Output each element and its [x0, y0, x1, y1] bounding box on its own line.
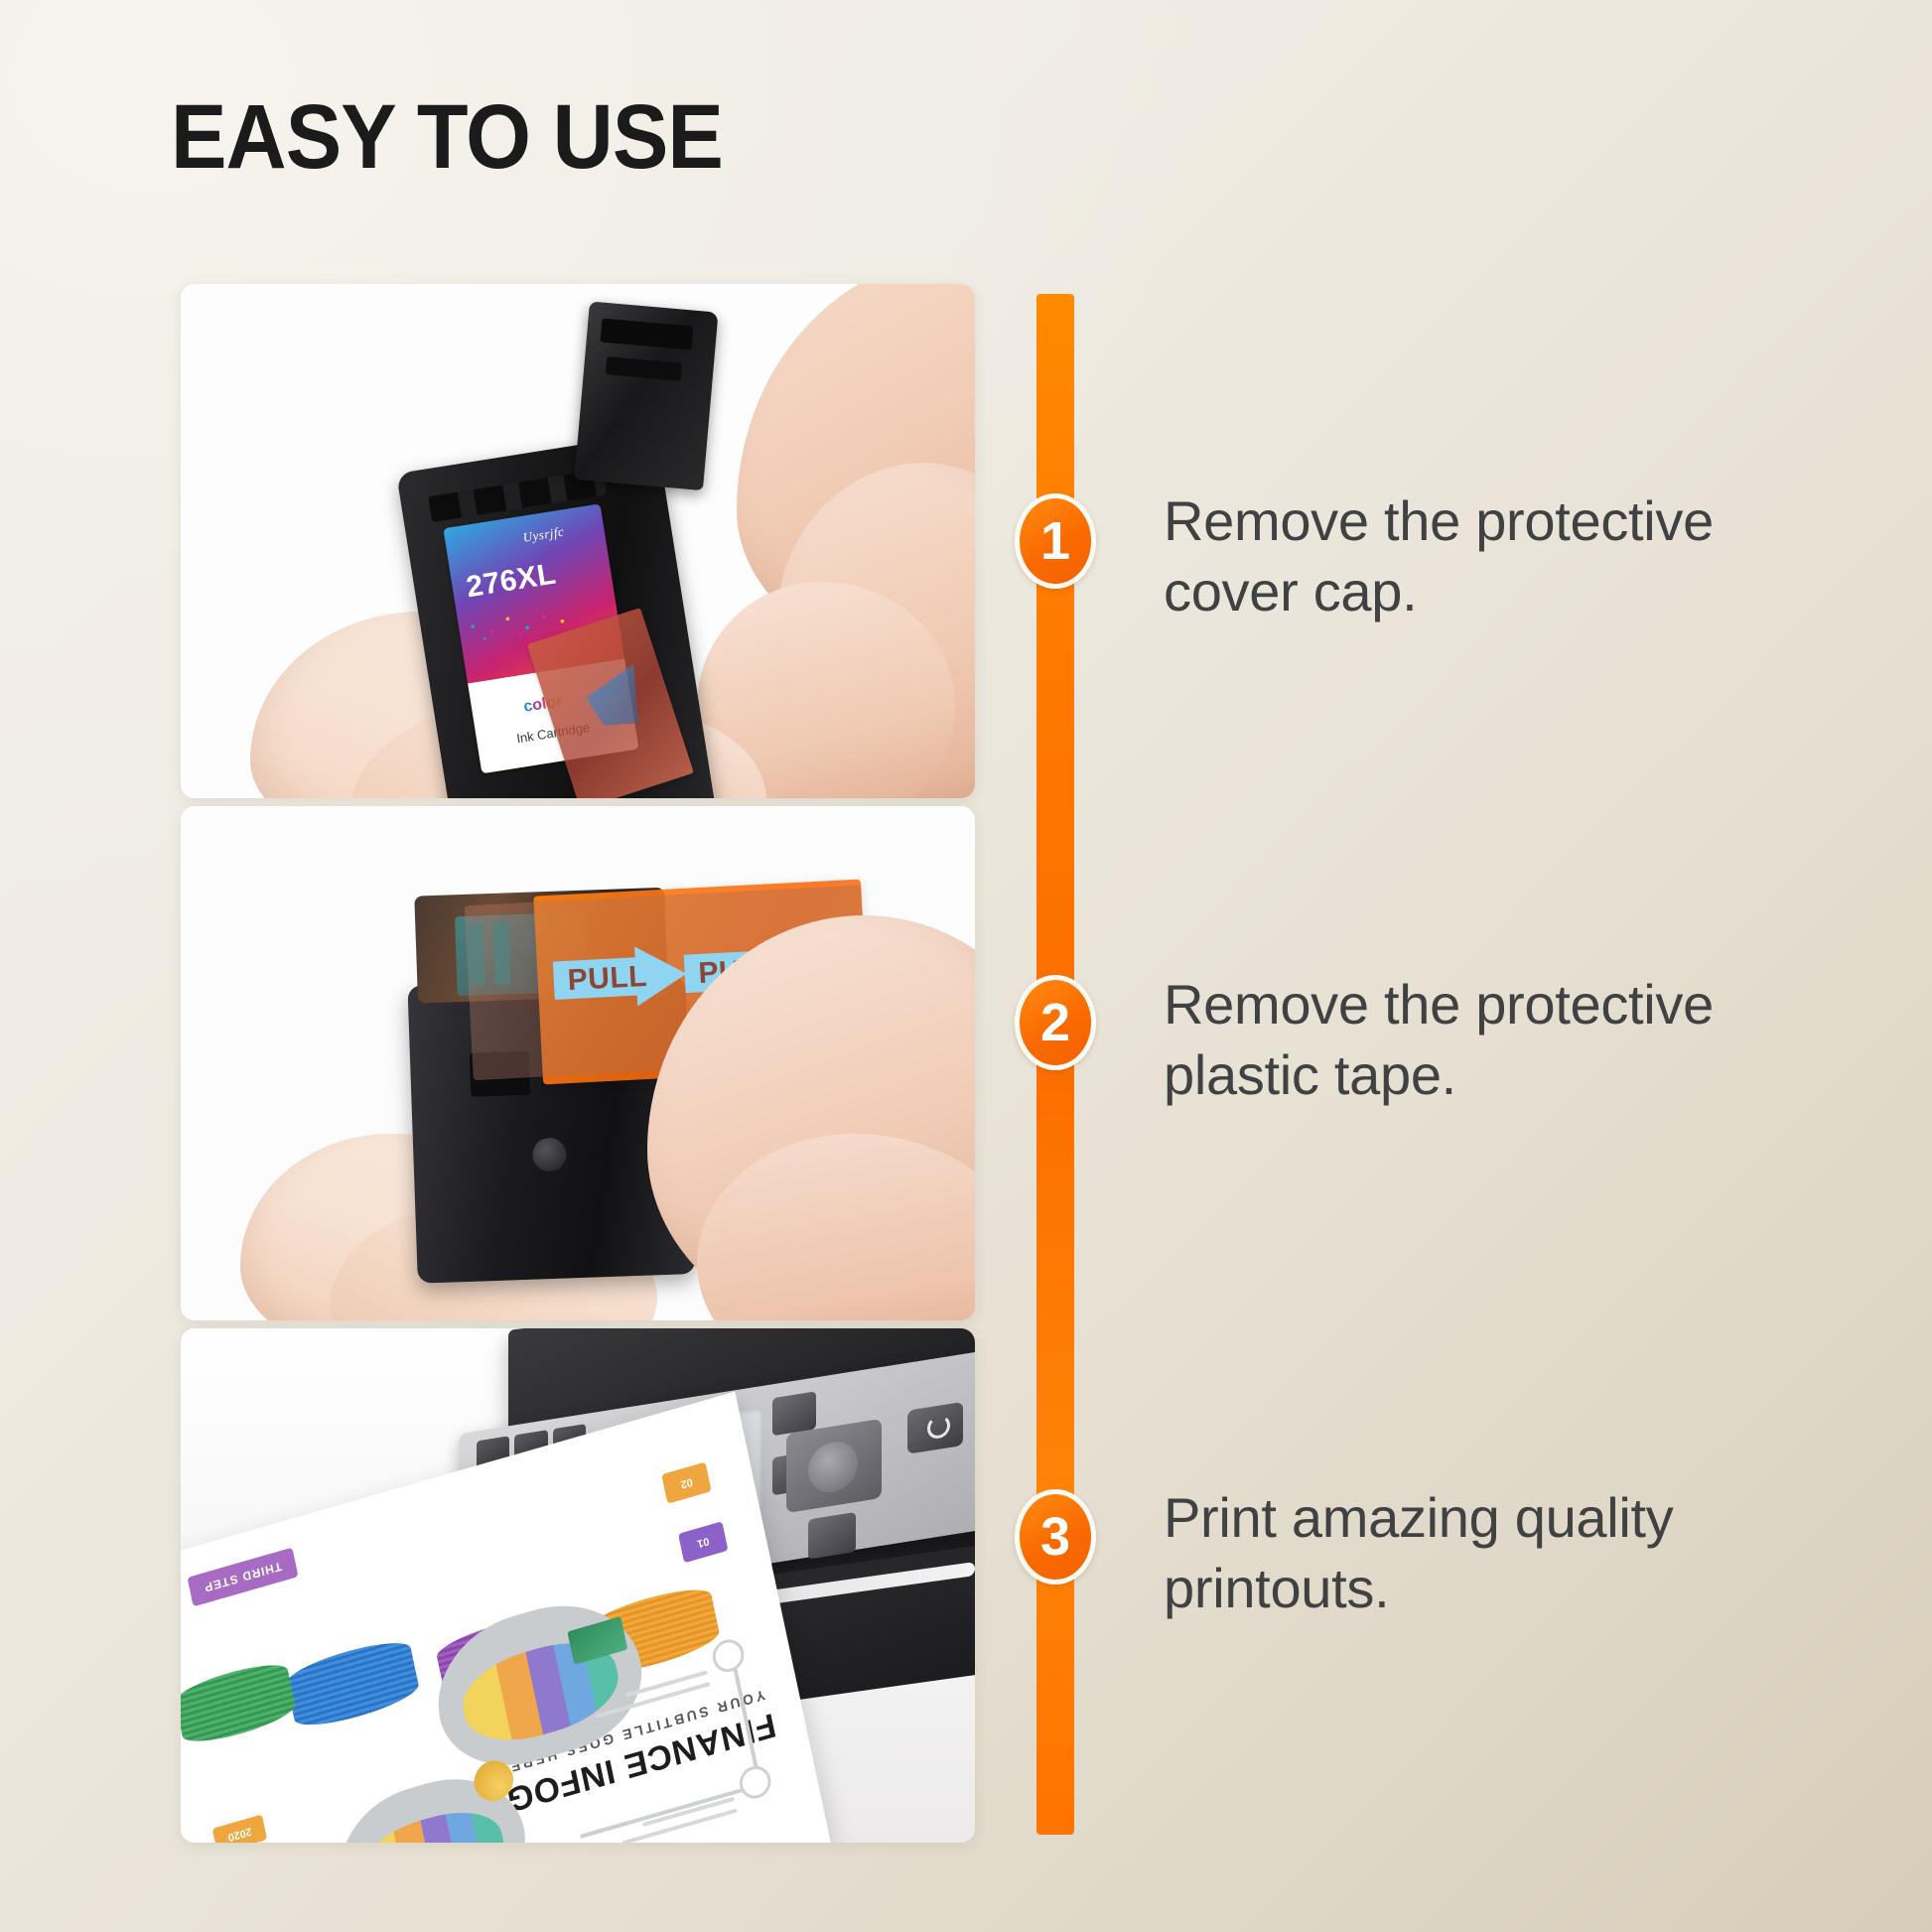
power-button — [907, 1402, 963, 1454]
step-number-badge-3: 3 — [1015, 1489, 1096, 1585]
step-3-line-1: Print amazing quality — [1164, 1483, 1819, 1554]
sheet-number-pill: 01 — [678, 1521, 728, 1563]
step-1-line-2: cover cap. — [1164, 557, 1819, 627]
sheet-stack-blue — [284, 1634, 422, 1734]
step-description-1: Remove the protective cover cap. — [1164, 486, 1819, 626]
pull-label-1: PULL — [567, 960, 648, 998]
sheet-year-pill: 2020 — [212, 1814, 267, 1843]
cartridge-model: 276XL — [464, 557, 558, 605]
printer-navigation-pad — [786, 1419, 882, 1513]
step-description-2: Remove the protective plastic tape. — [1164, 970, 1819, 1110]
photo-hand-removing-cover-cap: Uysrjfc 276XL color Ink Cartridge — [181, 284, 975, 798]
step-photo-card-3: FINANCE INFOGRAPHIC YOUR SUBTITLE GOES H… — [181, 1328, 975, 1843]
step-3-line-2: printouts. — [1164, 1554, 1819, 1624]
step-photo-card-2: PULL PULL — [181, 806, 975, 1320]
protective-cover-cap — [574, 301, 718, 490]
photo-printer-output: FINANCE INFOGRAPHIC YOUR SUBTITLE GOES H… — [181, 1328, 975, 1843]
photo-hand-pulling-tape: PULL PULL — [181, 806, 975, 1320]
power-icon — [927, 1414, 950, 1441]
step-photo-card-1: Uysrjfc 276XL color Ink Cartridge — [181, 284, 975, 798]
step-description-3: Print amazing quality printouts. — [1164, 1483, 1819, 1623]
sheet-heading-pill: THIRD STEP — [188, 1548, 299, 1607]
step-1-line-1: Remove the protective — [1164, 486, 1819, 557]
brand-logo: Uysrjfc — [522, 524, 566, 546]
step-2-line-2: plastic tape. — [1164, 1040, 1819, 1111]
step-number-badge-2: 2 — [1015, 975, 1096, 1070]
step-2-line-1: Remove the protective — [1164, 970, 1819, 1040]
sheet-number-pill: 02 — [661, 1462, 711, 1504]
page-title: EASY TO USE — [171, 91, 723, 183]
sheet-stack-green — [181, 1657, 298, 1749]
wifi-button-icon — [808, 1512, 856, 1560]
infographic-page: EASY TO USE Uysrjfc 276XL color Ink Cart… — [0, 0, 1932, 1932]
ink-cartridge: Uysrjfc 276XL color Ink Cartridge — [396, 433, 717, 798]
step-number-badge-1: 1 — [1015, 493, 1096, 589]
